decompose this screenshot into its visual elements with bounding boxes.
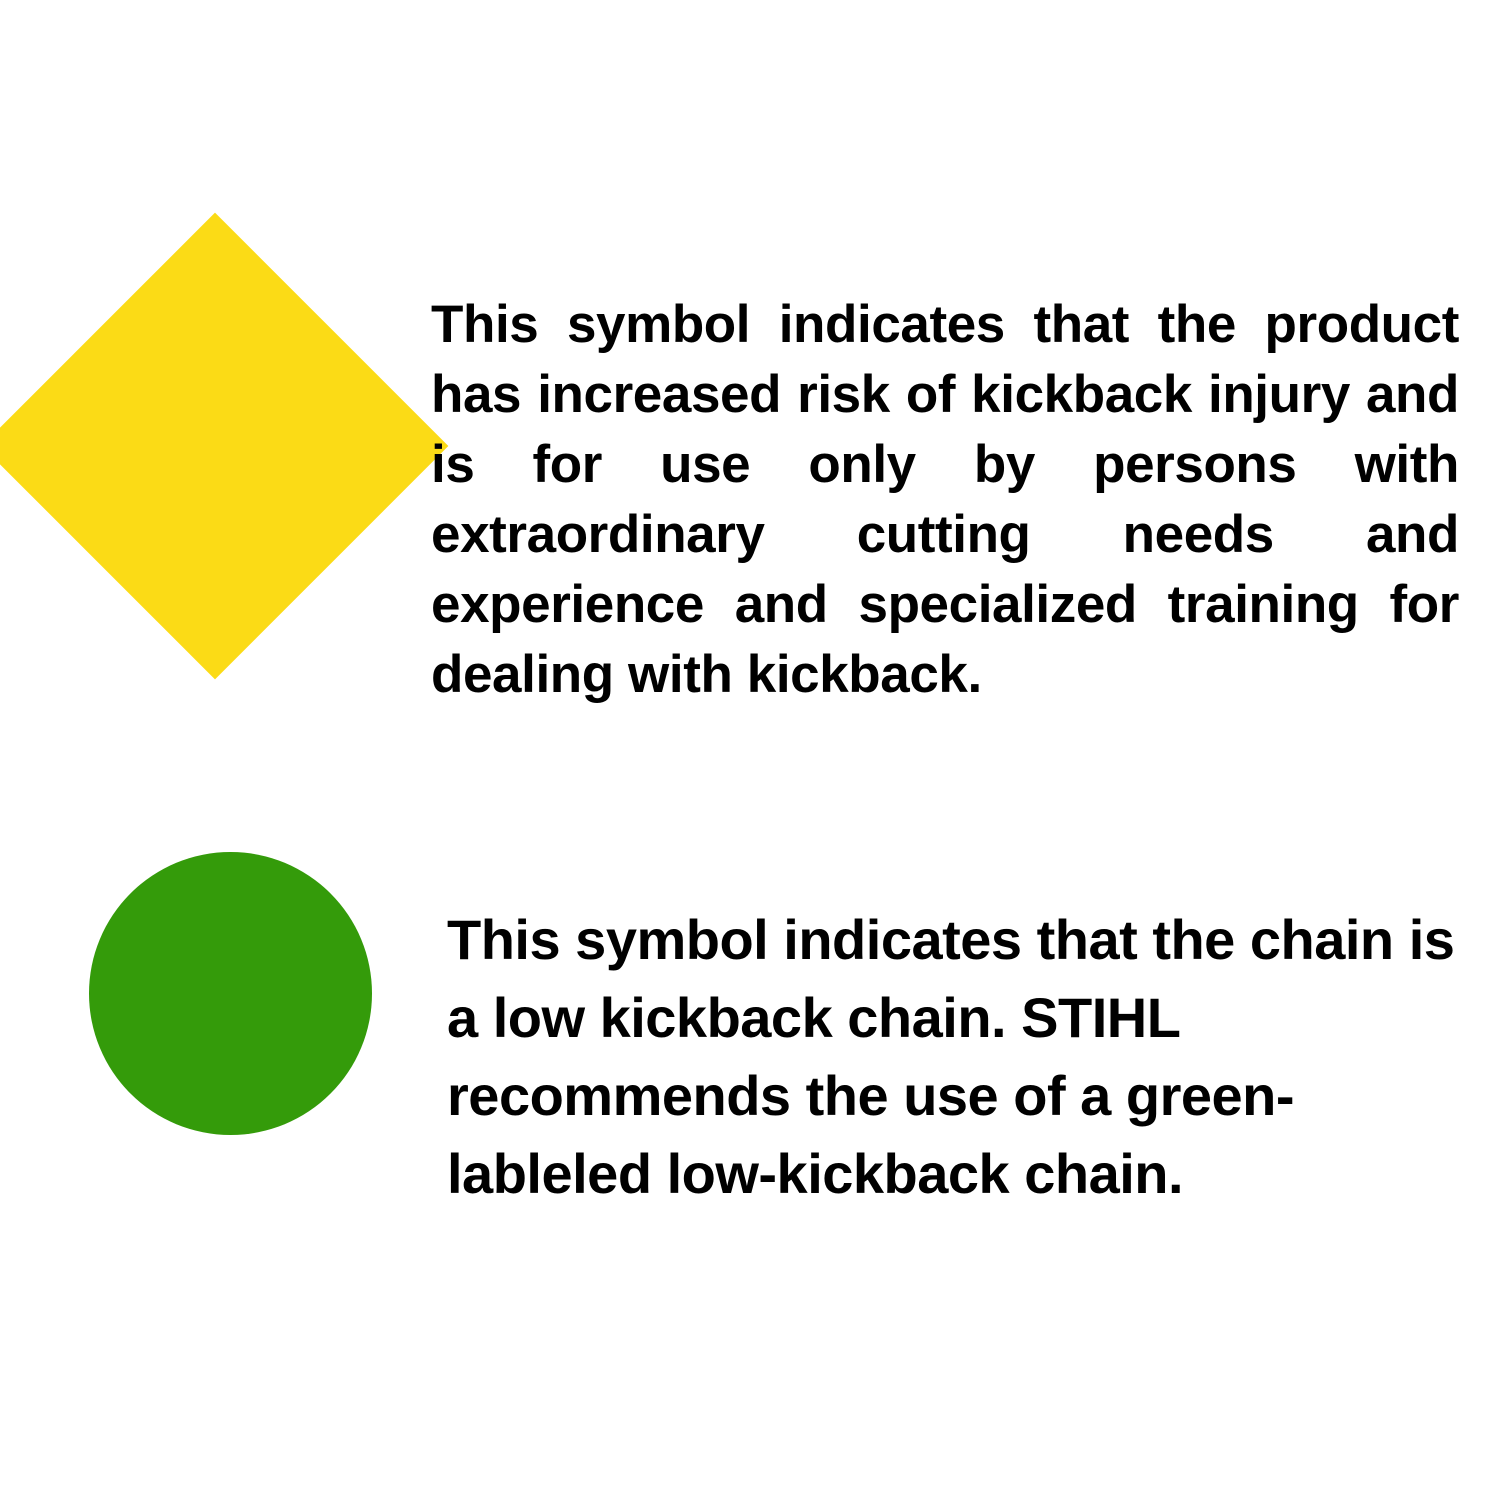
green-circle-icon <box>89 852 372 1135</box>
low-kickback-description: This symbol indicates that the chain is … <box>447 901 1487 1213</box>
symbol-legend-page: This symbol indicates that the product h… <box>0 0 1500 1500</box>
legend-row-low-kickback: This symbol indicates that the chain is … <box>0 0 1500 1500</box>
